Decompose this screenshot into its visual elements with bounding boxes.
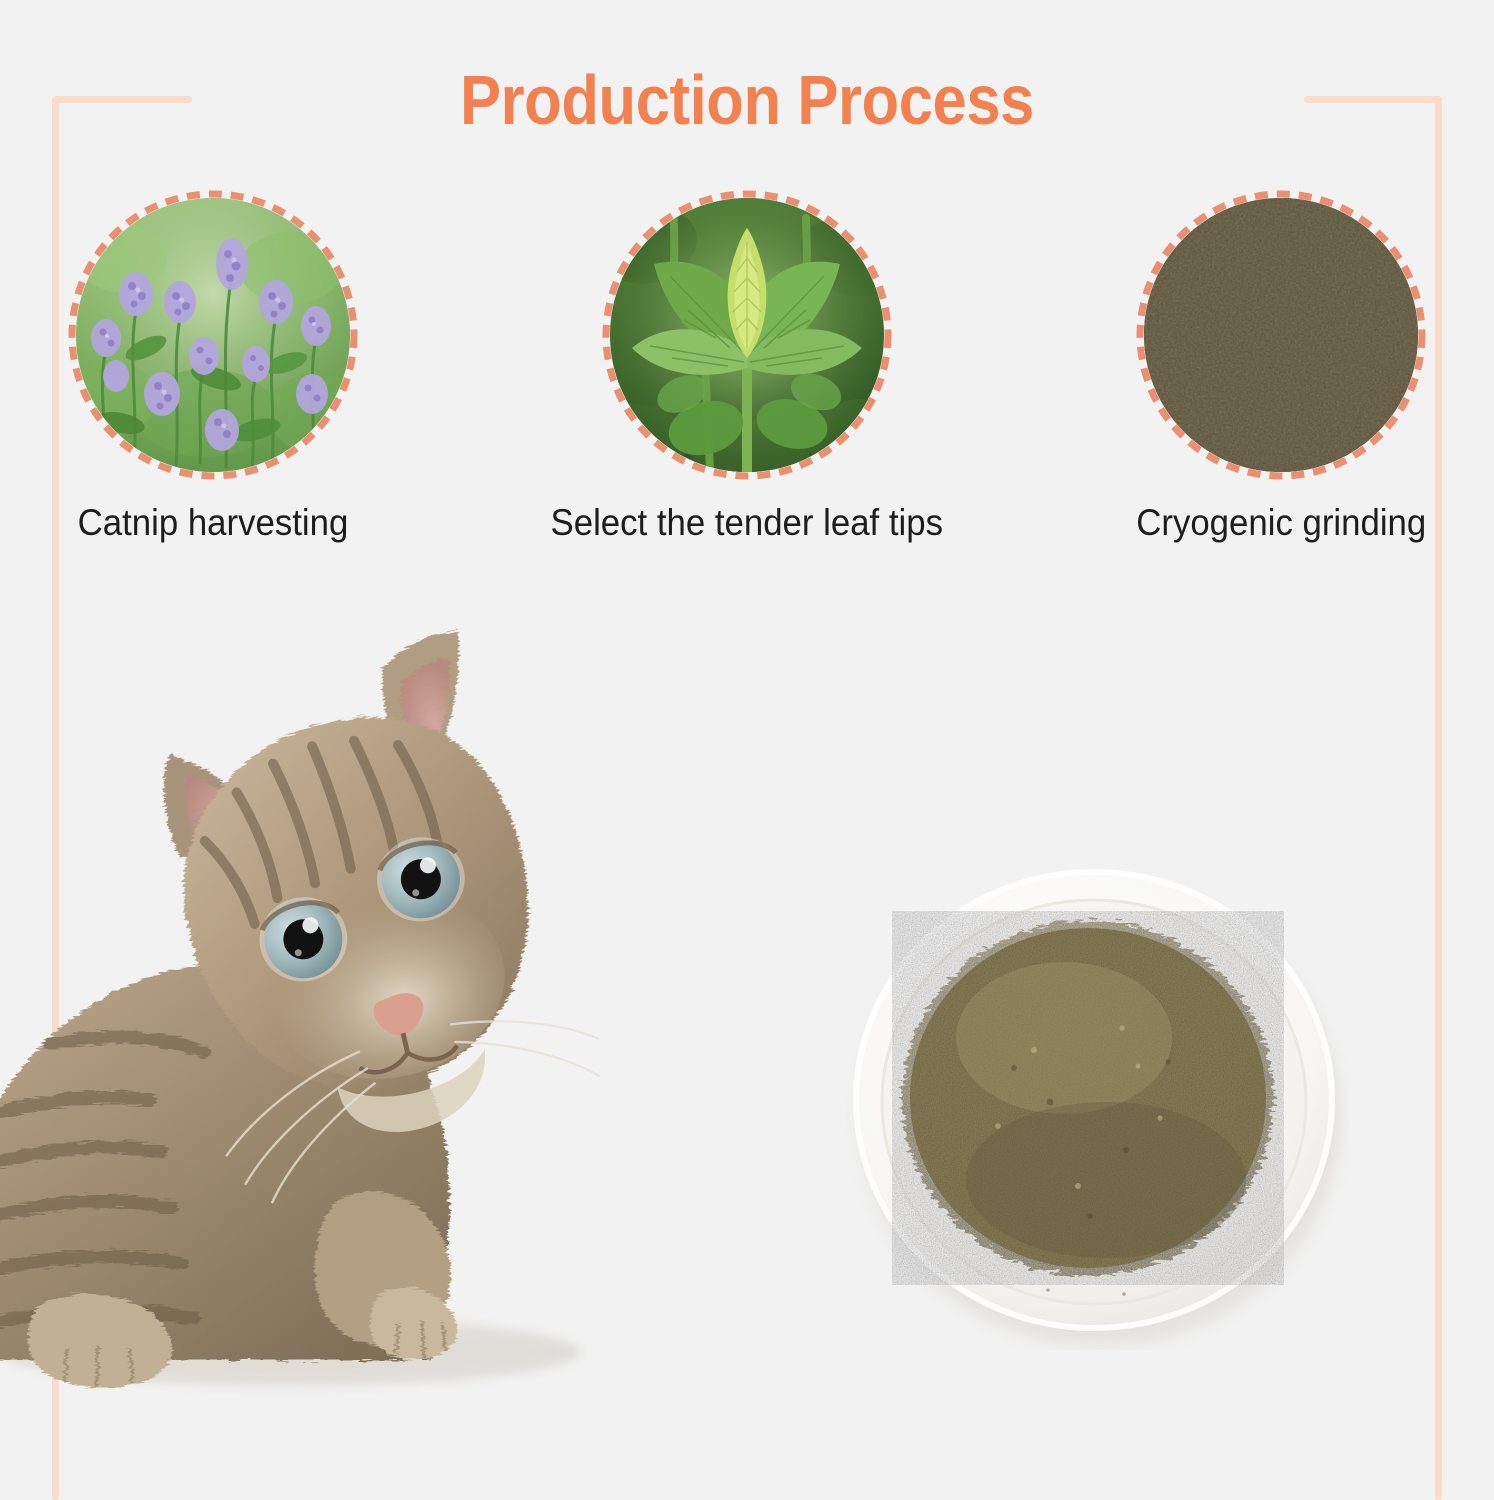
process-step-cryogenic-grinding: Cryogenic grinding <box>1136 190 1426 544</box>
step-3-image-container <box>1136 190 1426 480</box>
step-1-label: Catnip harvesting <box>78 502 349 544</box>
step-2-label: Select the tender leaf tips <box>551 502 943 544</box>
step-2-image-container <box>602 190 892 480</box>
step-3-label: Cryogenic grinding <box>1136 502 1426 544</box>
process-step-select-leaf-tips: Select the tender leaf tips <box>602 190 892 544</box>
ground-catnip-powder-photo <box>1144 198 1418 472</box>
step-1-image-container <box>68 190 358 480</box>
bottom-scene <box>0 580 1494 1500</box>
catnip-flowers-field-photo <box>76 198 350 472</box>
page-title: Production Process <box>90 60 1405 141</box>
catnip-leaf-tips-photo <box>610 198 884 472</box>
tabby-kitten-photo <box>0 600 750 1400</box>
process-step-catnip-harvesting: Catnip harvesting <box>68 190 358 544</box>
product-infographic-page: Production Process <box>0 0 1494 1500</box>
process-steps-row: Catnip harvesting <box>0 190 1494 544</box>
catnip-powder-bowl-photo <box>838 850 1350 1350</box>
